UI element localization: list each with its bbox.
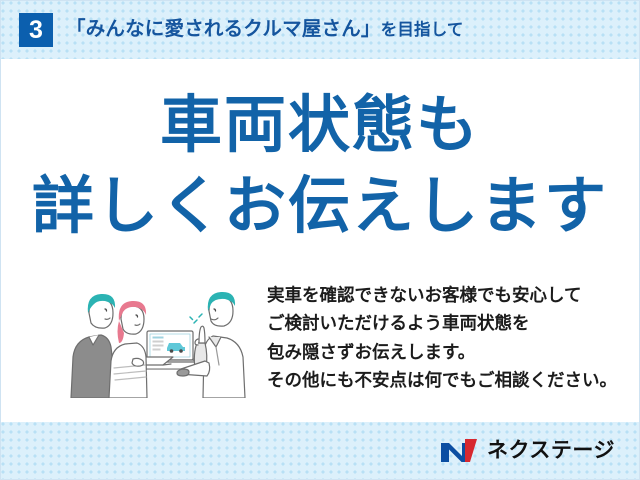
headline-block: 車両状態も 詳しくお伝えします — [1, 93, 639, 241]
body-copy-line-3: 包み隠さずお伝えします。 — [267, 338, 617, 366]
dealership-consultation-illustration — [59, 273, 259, 398]
advertisement-banner: 3 「みんなに愛されるクルマ屋さん」を目指して 車両状態も 詳しくお伝えします — [0, 0, 640, 480]
body-copy-line-2: ご検討いただけるよう車両状態を — [267, 309, 617, 337]
consultation-scene-svg — [59, 273, 259, 398]
nextage-n-logo-icon — [440, 438, 478, 463]
headline-line-2: 詳しくお伝えします — [1, 174, 639, 241]
brand-name: ネクステージ — [487, 440, 615, 461]
body-copy-line-1: 実車を確認できないお客様でも安心して — [267, 281, 617, 309]
header-title-main: 「みんなに愛されるクルマ屋さん」 — [66, 18, 381, 40]
step-number-badge: 3 — [19, 13, 53, 47]
header-title-suffix: を目指して — [381, 21, 464, 39]
header-title: 「みんなに愛されるクルマ屋さん」を目指して — [66, 20, 464, 40]
header: 3 「みんなに愛されるクルマ屋さん」を目指して — [1, 1, 639, 59]
body-copy: 実車を確認できないお客様でも安心して ご検討いただけるよう車両状態を 包み隠さず… — [267, 273, 617, 394]
body-copy-line-4: その他にも不安点は何でもご相談ください。 — [267, 366, 617, 394]
lower-content-row: 実車を確認できないお客様でも安心して ご検討いただけるよう車両状態を 包み隠さず… — [1, 273, 639, 403]
footer: ネクステージ — [1, 422, 639, 479]
brand-lockup: ネクステージ — [440, 438, 615, 463]
headline-line-1: 車両状態も — [1, 93, 639, 160]
